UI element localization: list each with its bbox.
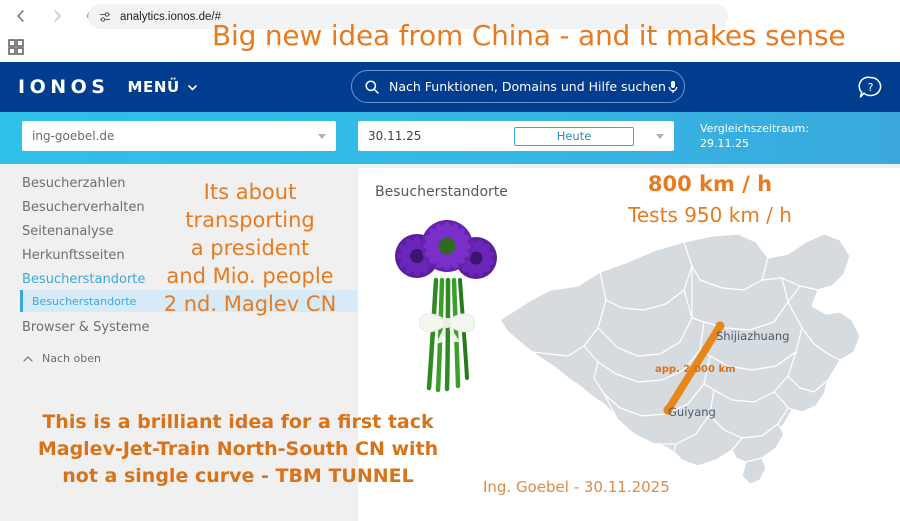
- chevron-down-icon: [656, 134, 664, 139]
- back-to-top-label: Nach oben: [42, 352, 101, 365]
- svg-text:?: ?: [868, 81, 874, 94]
- date-range-select[interactable]: 30.11.25 Heute: [358, 121, 674, 151]
- bottom-annotation: This is a brilliant idea for a first tac…: [8, 409, 468, 490]
- center-annotation-line-5: 2 nd. Maglev CN: [150, 290, 350, 318]
- back-button[interactable]: [6, 1, 36, 31]
- center-annotation-line-2: transporting: [150, 206, 350, 234]
- sidebar-subitem-besucherstandorte[interactable]: Besucherstandorte: [32, 295, 136, 308]
- search-placeholder: Nach Funktionen, Domains und Hilfe suche…: [389, 79, 666, 94]
- sidebar-item-seitenanalyse[interactable]: Seitenanalyse: [22, 224, 113, 239]
- screenshot-root: analytics.ionos.de/# Big new idea from C…: [0, 0, 900, 521]
- center-annotation: Its about transporting a president and M…: [150, 178, 350, 318]
- center-annotation-line-1: Its about: [150, 178, 350, 206]
- search-input[interactable]: Nach Funktionen, Domains und Hilfe suche…: [351, 70, 685, 103]
- bottom-annotation-line-1: This is a brilliant idea for a first tac…: [8, 409, 468, 436]
- comparison-date: 29.11.25: [700, 136, 809, 151]
- center-annotation-line-3: a president: [150, 234, 350, 262]
- bottom-annotation-line-3: not a single curve - TBM TUNNEL: [8, 463, 468, 490]
- sidebar-subitem-indicator: [20, 290, 23, 312]
- center-annotation-line-4: and Mio. people: [150, 262, 350, 290]
- china-provinces: [500, 234, 860, 484]
- sidebar-item-besucherverhalten[interactable]: Besucherverhalten: [22, 200, 145, 215]
- route-distance-label: app. 2.000 km: [655, 364, 736, 375]
- sidebar-item-besucherzahlen[interactable]: Besucherzahlen: [22, 176, 126, 191]
- panel-title: Besucherstandorte: [375, 184, 508, 200]
- comparison-label: Vergleichszeitraum:: [700, 121, 809, 136]
- chevron-up-icon: [22, 353, 34, 365]
- back-to-top-link[interactable]: Nach oben: [22, 352, 101, 365]
- ionos-logo: IONOS: [18, 76, 109, 98]
- flower-heads: [395, 220, 497, 279]
- bottom-annotation-line-2: Maglev-Jet-Train North-South CN with: [8, 436, 468, 463]
- chevron-down-icon: [318, 134, 326, 139]
- flower-stems: [429, 280, 467, 390]
- headline-annotation: Big new idea from China - and it makes s…: [212, 19, 892, 59]
- today-button[interactable]: Heute: [514, 127, 634, 146]
- date-value: 30.11.25: [368, 129, 514, 143]
- speed-main-annotation: 800 km / h: [560, 172, 860, 196]
- china-map: [488, 228, 898, 490]
- chevron-down-icon: [186, 81, 199, 94]
- help-bubble-icon[interactable]: ?: [857, 74, 884, 101]
- microphone-icon[interactable]: [666, 79, 680, 95]
- domain-select-value: ing-goebel.de: [32, 129, 318, 143]
- city-label-shijiazhuang: Shijiazhuang: [716, 329, 789, 343]
- comparison-period: Vergleichszeitraum: 29.11.25: [700, 121, 809, 151]
- apps-grid-icon[interactable]: [6, 37, 26, 57]
- menu-label: MENÜ: [127, 78, 179, 96]
- sidebar-item-browser-systeme[interactable]: Browser & Systeme: [22, 320, 150, 335]
- forward-button[interactable]: [42, 1, 72, 31]
- search-icon: [364, 79, 380, 95]
- url-text: analytics.ionos.de/#: [120, 11, 221, 23]
- domain-select[interactable]: ing-goebel.de: [22, 121, 336, 151]
- sidebar-item-besucherstandorte[interactable]: Besucherstandorte: [22, 272, 145, 287]
- sidebar-item-herkunftsseiten[interactable]: Herkunftsseiten: [22, 248, 125, 263]
- city-label-guiyang: Guiyang: [668, 405, 716, 419]
- speed-test-annotation: Tests 950 km / h: [560, 203, 860, 227]
- tune-icon[interactable]: [98, 10, 112, 24]
- menu-button[interactable]: MENÜ: [127, 78, 198, 96]
